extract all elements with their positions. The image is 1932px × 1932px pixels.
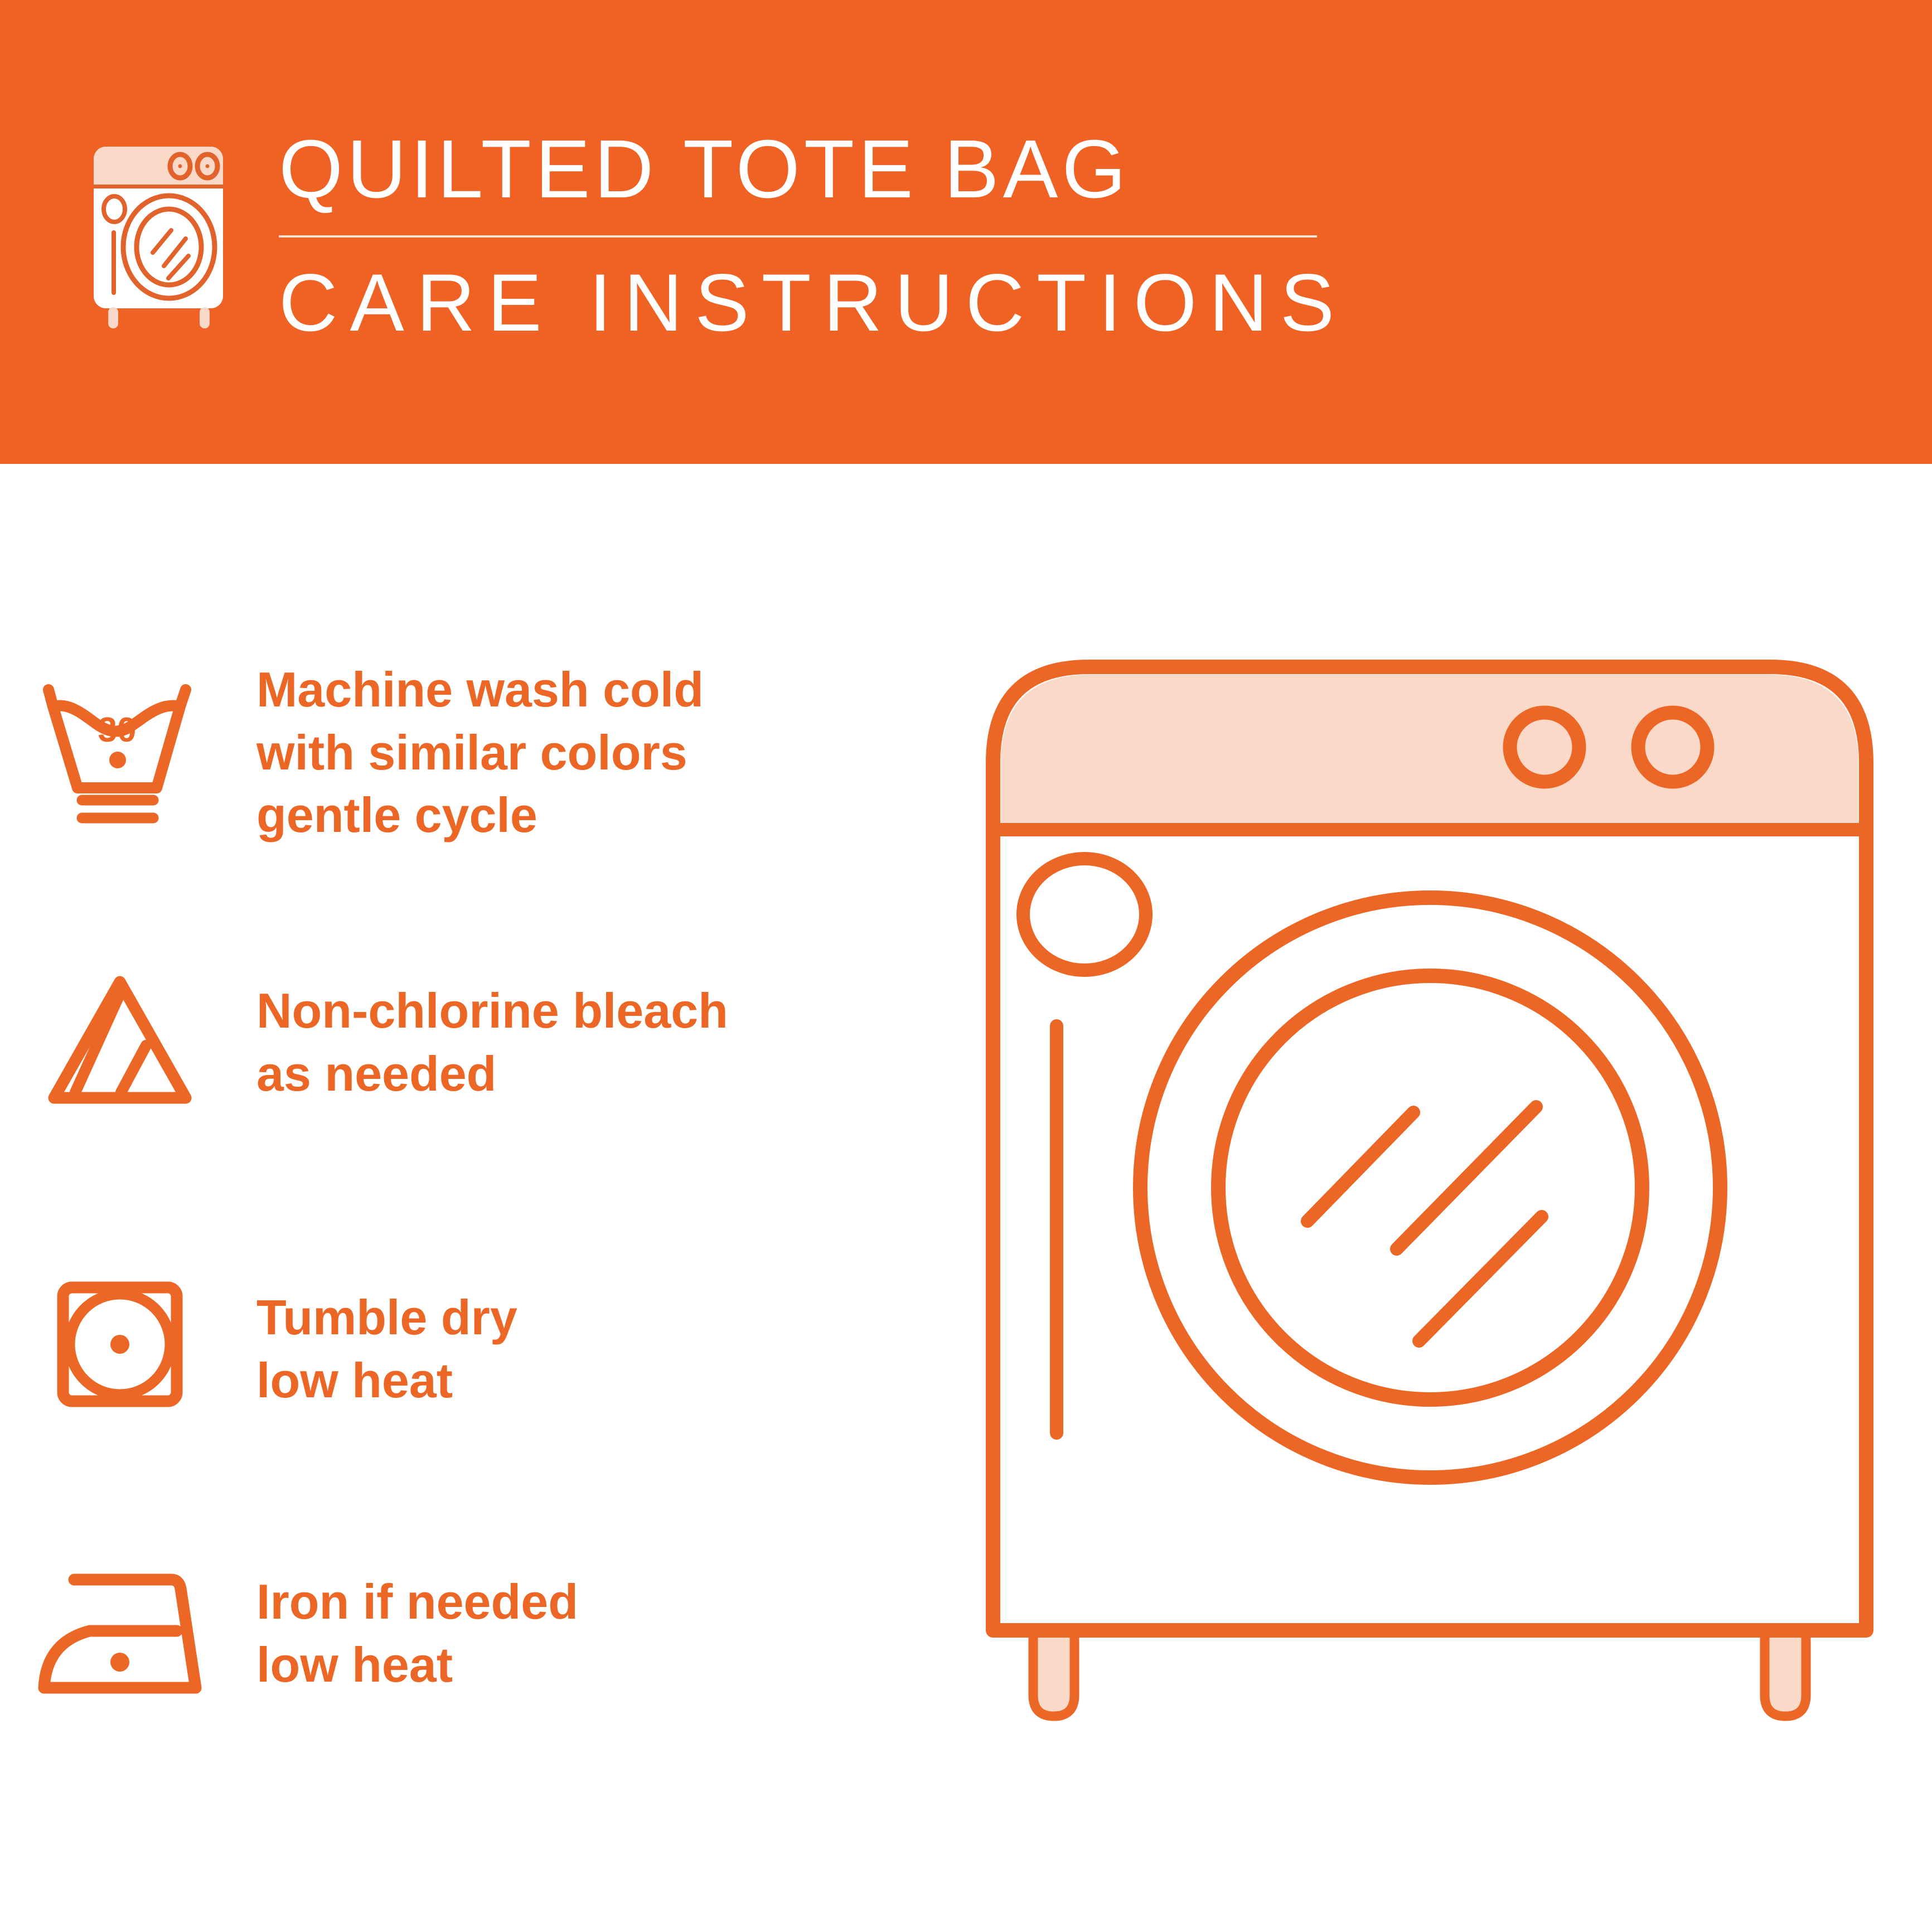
iron-low-heat-icon: [0, 1522, 240, 1745]
page-title-secondary: CARE INSTRUCTIONS: [279, 262, 1338, 343]
list-item: Tumble dry low heat: [0, 1238, 948, 1461]
control-knob-right: [1638, 713, 1707, 782]
list-item-label: Iron if needed low heat: [240, 1571, 578, 1696]
title-divider: [279, 235, 1317, 238]
washing-machine-icon: [84, 137, 245, 332]
wash-basin-30-gentle-icon: 30: [0, 641, 240, 864]
control-knob-left: [1510, 713, 1579, 782]
washing-machine-illustration: [967, 636, 1915, 1885]
list-item: Non-chlorine bleach as needed: [0, 931, 948, 1154]
list-item-label: Tumble dry low heat: [240, 1286, 517, 1412]
header-banner: QUILTED TOTE BAG CARE INSTRUCTIONS: [0, 0, 1932, 464]
list-item-label: Machine wash cold with similar colors ge…: [240, 658, 704, 847]
list-item: Iron if needed low heat: [0, 1522, 948, 1745]
list-item-label: Non-chlorine bleach as needed: [240, 980, 728, 1105]
triangle-non-chlorine-bleach-icon: [0, 931, 240, 1154]
wash-temperature-label: 30: [98, 711, 137, 749]
header-title-block: QUILTED TOTE BAG CARE INSTRUCTIONS: [279, 128, 1338, 343]
page-title-primary: QUILTED TOTE BAG: [279, 128, 1338, 211]
tumble-dry-low-heat-icon: [0, 1238, 240, 1461]
list-item: 30 Machine wash cold with similar colors…: [0, 641, 948, 864]
